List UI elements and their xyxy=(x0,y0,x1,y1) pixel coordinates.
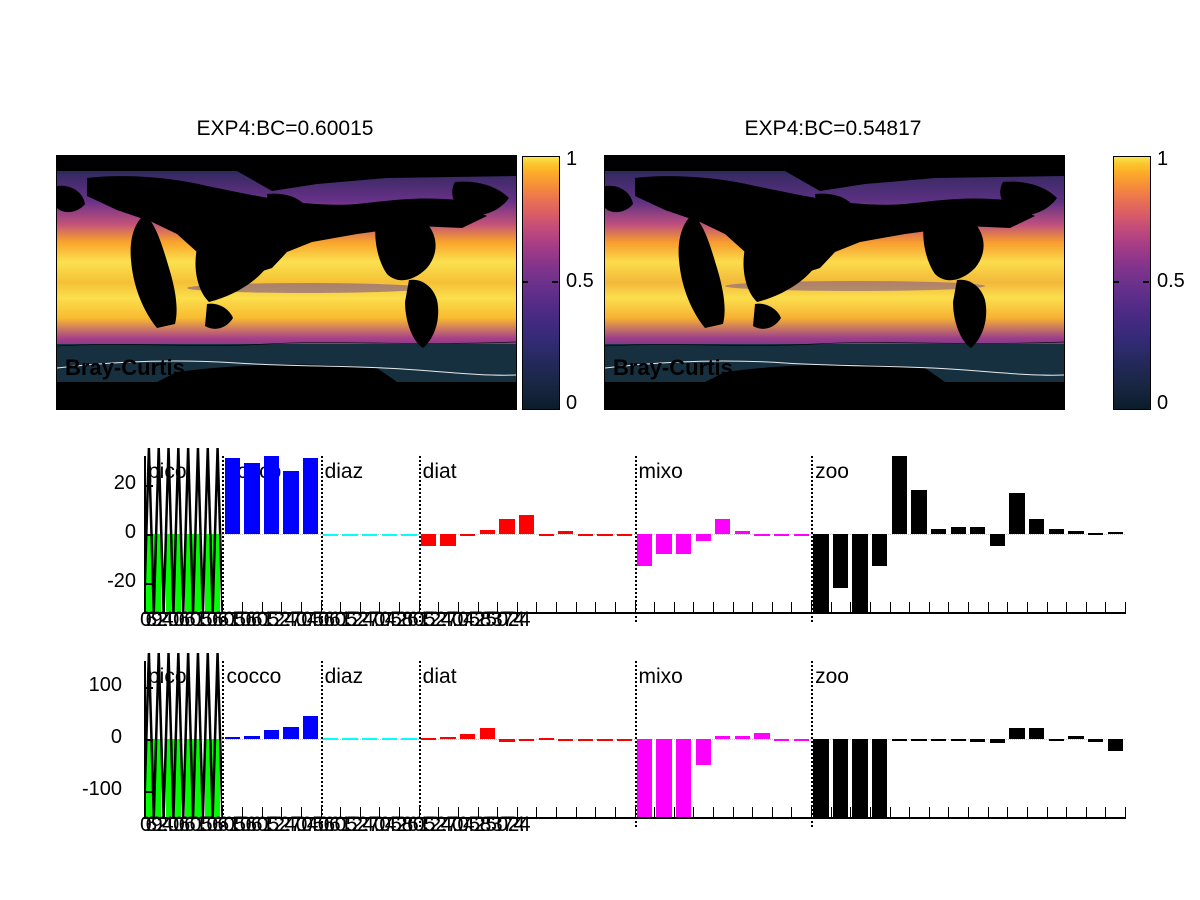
y-tick-label: -20 xyxy=(76,570,136,593)
bar-zoo-12 xyxy=(1049,529,1064,534)
bar-zoo-15 xyxy=(1108,739,1123,751)
x-tick xyxy=(1047,807,1048,819)
bar-mixo-7 xyxy=(774,534,789,536)
figure-canvas: EXP4:BC=0.60015 xyxy=(0,0,1200,900)
bar-mixo-6 xyxy=(754,534,769,536)
bar-diaz-4 xyxy=(401,534,416,536)
x-tick xyxy=(772,807,773,819)
x-tick xyxy=(556,807,557,819)
bar-diat-2 xyxy=(460,734,475,739)
bar-cocco-0 xyxy=(225,458,240,534)
bar-zoo-0 xyxy=(813,534,828,612)
bar-mixo-1 xyxy=(656,739,671,817)
bar-zoo-7 xyxy=(951,739,966,741)
bar-mixo-8 xyxy=(794,534,809,536)
bar-diat-8 xyxy=(578,739,593,741)
x-tick xyxy=(615,602,616,614)
bar-zoo-0 xyxy=(813,739,828,817)
bar-diaz-1 xyxy=(342,534,357,536)
x-tick xyxy=(988,807,989,819)
x-tick xyxy=(909,807,910,819)
y-tick-mark xyxy=(144,791,153,793)
bar-zoo-3 xyxy=(872,534,887,566)
x-tick xyxy=(654,807,655,819)
colorbar-left-label-05: 0.5 xyxy=(566,270,594,293)
x-tick xyxy=(890,807,891,819)
y-tick-label: 0 xyxy=(62,726,122,749)
x-tick xyxy=(1066,807,1067,819)
bar-zoo-8 xyxy=(970,739,985,742)
bar-diat-7 xyxy=(558,739,573,741)
map-left-panel: Bray-Curtis xyxy=(56,155,517,410)
x-tick xyxy=(1125,602,1126,614)
colorbar-right-tick-mid xyxy=(1113,281,1119,283)
bar-cocco-4 xyxy=(303,716,318,739)
x-tick xyxy=(968,602,969,614)
x-tick xyxy=(811,602,812,614)
x-tick xyxy=(772,602,773,614)
bar-diat-6 xyxy=(539,738,554,740)
bar-mixo-5 xyxy=(735,531,750,534)
x-tick xyxy=(576,807,577,819)
y-tick-mark xyxy=(144,583,153,585)
bar-zoo-4 xyxy=(892,739,907,741)
bar-mixo-2 xyxy=(676,534,691,554)
x-tick xyxy=(595,602,596,614)
bar-diat-2 xyxy=(460,534,475,536)
x-tick xyxy=(595,807,596,819)
colorbar-left-label-0: 0 xyxy=(566,392,577,415)
bar-zoo-8 xyxy=(970,527,985,534)
x-tick xyxy=(1007,602,1008,614)
bar-diat-5 xyxy=(519,739,534,741)
x-tick xyxy=(831,807,832,819)
bar-diat-10 xyxy=(617,534,632,536)
x-tick xyxy=(674,602,675,614)
x-tick xyxy=(870,602,871,614)
bar-zoo-1 xyxy=(833,739,848,817)
x-tick xyxy=(1105,602,1106,614)
y-tick-mark xyxy=(144,739,153,741)
x-tick xyxy=(615,807,616,819)
x-tick xyxy=(1047,602,1048,614)
x-tick xyxy=(929,807,930,819)
bar-cocco-1 xyxy=(244,736,259,739)
bar-mixo-8 xyxy=(794,739,809,741)
chart-delta-biomass: △ biomass 200-20 picococcodiazdiatmixozo… xyxy=(0,440,1200,640)
bar-zoo-6 xyxy=(931,529,946,534)
bar-zoo-11 xyxy=(1029,728,1044,739)
bar-diat-9 xyxy=(597,739,612,741)
bar-mixo-4 xyxy=(715,519,730,534)
clipped-indicator-pico xyxy=(144,653,222,817)
bar-diaz-1 xyxy=(342,738,357,740)
bar-cocco-2 xyxy=(264,456,279,534)
x-tick xyxy=(870,807,871,819)
group-label-zoo: zoo xyxy=(815,460,849,484)
x-tick xyxy=(1105,807,1106,819)
bar-zoo-2 xyxy=(852,534,867,612)
bar-zoo-1 xyxy=(833,534,848,588)
bar-zoo-9 xyxy=(990,739,1005,743)
colorbar-right xyxy=(1113,156,1151,410)
bar-mixo-3 xyxy=(696,534,711,541)
x-tick xyxy=(948,602,949,614)
x-tick xyxy=(1125,807,1126,819)
bar-mixo-0 xyxy=(637,739,652,817)
bar-diat-3 xyxy=(480,728,495,739)
map-right-panel: Bray-Curtis xyxy=(604,155,1065,410)
x-tick xyxy=(850,602,851,614)
bar-zoo-13 xyxy=(1068,531,1083,534)
x-tick xyxy=(909,602,910,614)
group-separator-diat xyxy=(419,661,421,827)
colorbar-left-tick-mid-right xyxy=(552,281,558,283)
x-tick xyxy=(576,602,577,614)
x-tick xyxy=(713,807,714,819)
chart-biomass-plot-area: picococcodiazdiatmixozoo xyxy=(144,456,1125,612)
x-tick xyxy=(890,602,891,614)
y-tick-mark xyxy=(144,485,153,487)
bar-diat-1 xyxy=(440,534,455,546)
bar-diat-1 xyxy=(440,737,455,739)
bar-zoo-13 xyxy=(1068,736,1083,739)
bar-diat-9 xyxy=(597,534,612,536)
bar-cocco-4 xyxy=(303,458,318,534)
bar-zoo-4 xyxy=(892,456,907,534)
x-tick xyxy=(968,807,969,819)
group-separator-diaz xyxy=(321,456,323,622)
colorbar-left xyxy=(522,156,560,410)
x-tick xyxy=(1027,807,1028,819)
x-tick xyxy=(635,602,636,614)
bar-diaz-4 xyxy=(401,738,416,740)
x-tick xyxy=(811,807,812,819)
bar-diat-7 xyxy=(558,531,573,534)
bar-zoo-2 xyxy=(852,739,867,817)
bar-diat-8 xyxy=(578,534,593,536)
bar-diaz-3 xyxy=(382,534,397,536)
x-tick xyxy=(1086,602,1087,614)
colorbar-right-label-05: 0.5 xyxy=(1157,270,1185,293)
y-tick-label: 0 xyxy=(76,521,136,544)
map-left-overlay-label: Bray-Curtis xyxy=(65,355,185,381)
colorbar-right-tick-mid-right xyxy=(1143,281,1149,283)
x-tick xyxy=(713,602,714,614)
bar-cocco-0 xyxy=(225,737,240,739)
x-tick xyxy=(752,807,753,819)
bar-mixo-2 xyxy=(676,739,691,817)
x-tick xyxy=(1007,807,1008,819)
bar-diat-3 xyxy=(480,530,495,534)
bar-diaz-0 xyxy=(323,738,338,740)
x-tick xyxy=(674,807,675,819)
bar-mixo-0 xyxy=(637,534,652,566)
x-tick xyxy=(733,807,734,819)
bar-cocco-1 xyxy=(244,463,259,534)
x-tick xyxy=(988,602,989,614)
x-tick xyxy=(693,807,694,819)
bar-diat-4 xyxy=(499,519,514,534)
x-tick xyxy=(654,602,655,614)
x-tick xyxy=(556,602,557,614)
bar-zoo-15 xyxy=(1108,532,1123,534)
bar-diat-5 xyxy=(519,515,534,535)
bar-zoo-10 xyxy=(1009,493,1024,534)
group-label-mixo: mixo xyxy=(639,665,683,689)
bar-mixo-5 xyxy=(735,736,750,739)
x-tick xyxy=(1027,602,1028,614)
group-label-diat: diat xyxy=(423,460,457,484)
bar-diaz-2 xyxy=(362,534,377,536)
x-tick xyxy=(693,602,694,614)
group-label-cocco: cocco xyxy=(226,665,281,689)
bar-zoo-5 xyxy=(911,739,926,741)
colorbar-left-tick-mid xyxy=(522,281,528,283)
clipped-indicator-pico xyxy=(144,448,222,612)
map-left-title: EXP4:BC=0.60015 xyxy=(55,117,515,141)
bar-diaz-0 xyxy=(323,534,338,536)
map-right-title: EXP4:BC=0.54817 xyxy=(603,117,1063,141)
bar-mixo-6 xyxy=(754,733,769,739)
bar-mixo-4 xyxy=(715,736,730,739)
bar-zoo-10 xyxy=(1009,728,1024,739)
chart-area-plot-area: picococcodiazdiatmixozoo xyxy=(144,661,1125,817)
map-right-overlay-label: Bray-Curtis xyxy=(613,355,733,381)
bar-zoo-5 xyxy=(911,490,926,534)
bar-mixo-7 xyxy=(774,739,789,741)
group-separator-cocco xyxy=(222,661,224,827)
bar-diaz-2 xyxy=(362,738,377,740)
bar-zoo-12 xyxy=(1049,739,1064,741)
x-tick xyxy=(1066,602,1067,614)
x-tick xyxy=(733,602,734,614)
colorbar-left-label-1: 1 xyxy=(566,148,577,171)
bar-zoo-9 xyxy=(990,534,1005,546)
bar-zoo-11 xyxy=(1029,519,1044,534)
bar-cocco-2 xyxy=(264,730,279,739)
chart-area-xtick-labels: 0.6.9.2.4.0.0.6.60.15.0.6.60.15.0.6.60.1… xyxy=(140,813,525,837)
bar-diat-10 xyxy=(617,739,632,741)
group-label-zoo: zoo xyxy=(815,665,849,689)
bar-zoo-3 xyxy=(872,739,887,817)
y-tick-label: 20 xyxy=(76,472,136,495)
bar-cocco-3 xyxy=(283,727,298,739)
x-tick xyxy=(791,602,792,614)
x-tick xyxy=(536,807,537,819)
group-label-diat: diat xyxy=(423,665,457,689)
x-tick xyxy=(536,602,537,614)
group-label-mixo: mixo xyxy=(639,460,683,484)
group-label-diaz: diaz xyxy=(325,460,364,484)
bar-diat-0 xyxy=(421,738,436,740)
y-tick-label: -100 xyxy=(62,778,122,801)
group-separator-diaz xyxy=(321,661,323,827)
y-tick-mark xyxy=(144,534,153,536)
x-tick xyxy=(948,807,949,819)
colorbar-right-label-0: 0 xyxy=(1157,392,1168,415)
x-tick xyxy=(850,807,851,819)
bar-mixo-1 xyxy=(656,534,671,554)
x-tick xyxy=(831,602,832,614)
bar-zoo-6 xyxy=(931,739,946,741)
bar-mixo-3 xyxy=(696,739,711,765)
bar-diaz-3 xyxy=(382,738,397,740)
bar-zoo-14 xyxy=(1088,533,1103,535)
x-tick xyxy=(929,602,930,614)
bar-zoo-7 xyxy=(951,527,966,534)
x-tick xyxy=(791,807,792,819)
group-label-diaz: diaz xyxy=(325,665,364,689)
y-tick-label: 100 xyxy=(62,674,122,697)
x-tick xyxy=(752,602,753,614)
bar-diat-4 xyxy=(499,739,514,742)
x-tick xyxy=(1086,807,1087,819)
chart-delta-area: △ area 1000-100 picococcodiazdiatmixozoo… xyxy=(0,645,1200,845)
colorbar-right-label-1: 1 xyxy=(1157,148,1168,171)
bar-cocco-3 xyxy=(283,471,298,534)
bar-zoo-14 xyxy=(1088,739,1103,742)
chart-biomass-xtick-labels: 0.6.9.2.4.0.0.6.60.15.0.6.60.15.0.6.60.1… xyxy=(140,608,525,632)
y-tick-mark xyxy=(144,687,153,689)
bar-diat-6 xyxy=(539,534,554,536)
bar-diat-0 xyxy=(421,534,436,546)
x-tick xyxy=(635,807,636,819)
